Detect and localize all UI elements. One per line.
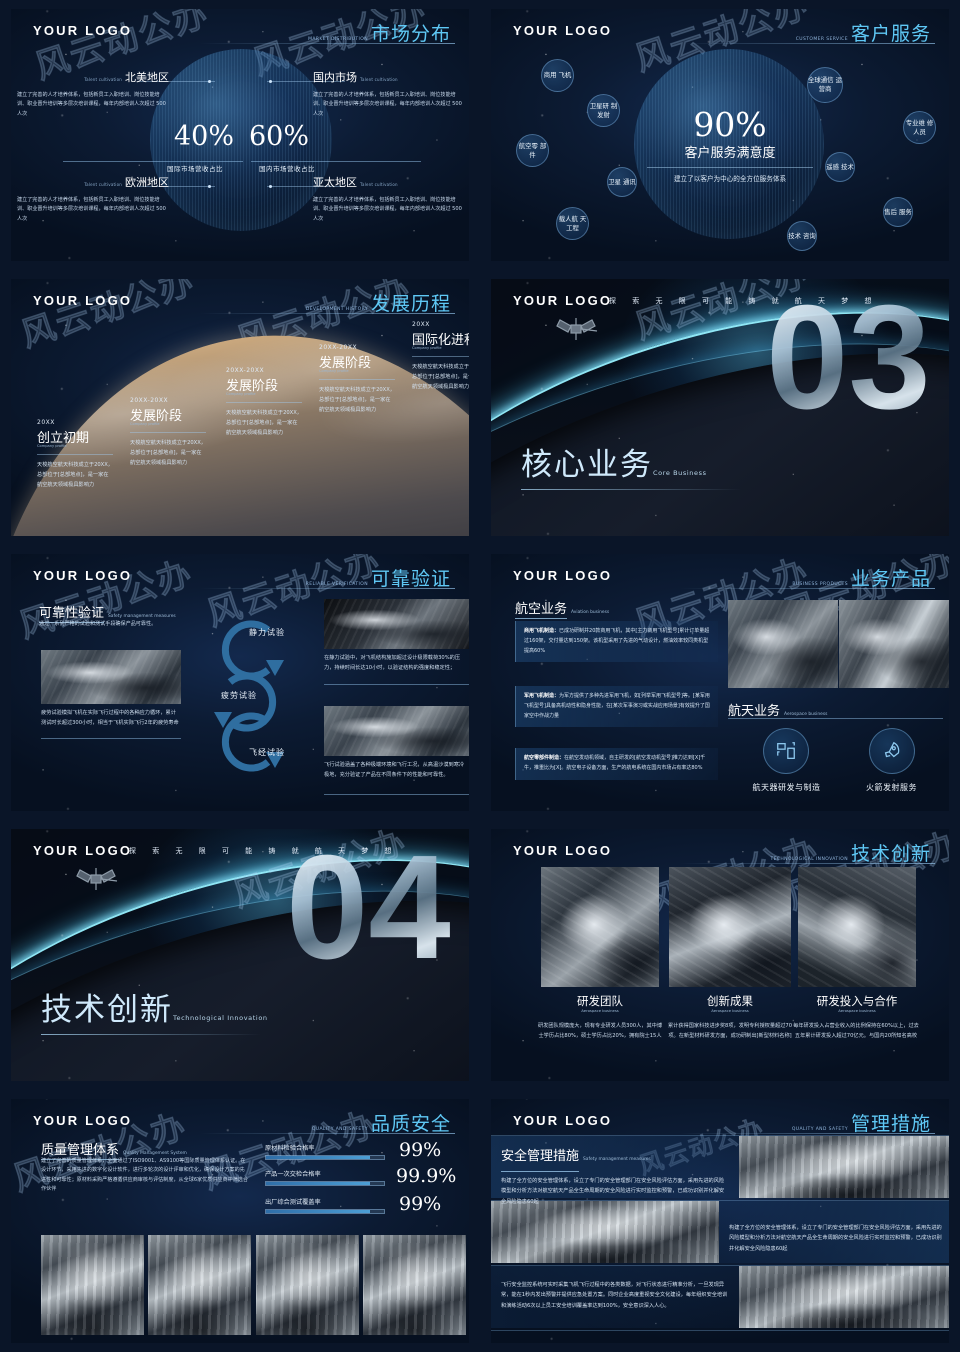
header-title: 技术创新: [851, 839, 931, 866]
stat-band-line: [251, 161, 421, 162]
satellite-icon: [553, 315, 601, 345]
logo: YOUR LOGO: [33, 568, 132, 583]
cycle-label-0: 静力试验: [249, 627, 285, 638]
slide-business-products[interactable]: 风云动公办 风云动公办 YOUR LOGO Business Products …: [480, 545, 960, 820]
divider: [319, 379, 395, 380]
milestone-year-4: 20XX: [412, 321, 469, 328]
satellite-icon: [73, 865, 121, 895]
header-title: 客户服务: [851, 19, 931, 46]
sub-heading-cn: 航天业务: [728, 700, 780, 720]
header-subtitle: Quality And Safety: [312, 1127, 368, 1132]
slide-header: Development History 发展历程: [306, 289, 451, 316]
connector-dot: [208, 185, 211, 188]
region-en-0: Talent cultivation: [84, 77, 122, 82]
slide-section-tech-innovation[interactable]: 风云动公办 04 YOUR LOGO 探 索 无 限 可 能 铸 就 航 天 梦…: [0, 820, 480, 1090]
product-label-2: 航空零部件制造：: [524, 755, 564, 761]
region-en-2: Talent cultivation: [84, 182, 122, 187]
card-title-1: 创新成果 Aerospace business: [669, 993, 791, 1013]
header-subtitle: Reliable Verification: [306, 582, 368, 587]
milestone-body-3: 天梭航空航天科技成立于20XX，总部位于[总部地点]，是一家在航空航天领域极具影…: [319, 385, 395, 415]
facility-photo: [41, 1235, 144, 1335]
facility-photo: [739, 1266, 949, 1328]
region-block-2: Talent cultivation 欧洲地区 建立了完善的人才培养体系，包括新…: [17, 174, 169, 224]
logo: YOUR LOGO: [513, 293, 612, 308]
logo: YOUR LOGO: [33, 293, 132, 308]
section-heading: 航空业务 Aviation business: [515, 598, 609, 619]
measure-body-0: 构建了全方位的安全管理体系，设立了专门的安全管理部门在安全风险评估方面，采用先进…: [501, 1176, 729, 1207]
metric-label-0: 原材料检验合格率: [265, 1143, 385, 1152]
card-title-en-1: Aerospace business: [669, 1008, 791, 1013]
product-item-2: 航空零部件制造：在航空发动机领域，自主研发的[航空发动机型号]推力达到[X]千牛…: [515, 748, 718, 780]
facility-photo: [363, 1235, 466, 1335]
measure-body-2: 飞行安全监控系统可实时采集飞机飞行过程中的各类数据，对飞行状态进行精准分析，一旦…: [501, 1274, 729, 1311]
slide-header: Quality And Safety 品质安全: [312, 1109, 451, 1136]
shuttle-photo: [41, 650, 181, 704]
milestone-body-0: 天梭航空航天科技成立于20XX，总部位于[总部地点]，是一家在航空航天领域极具影…: [37, 460, 113, 490]
header-title: 发展历程: [371, 289, 451, 316]
measure-row-2: 飞行安全监控系统可实时采集飞机飞行过程中的各类数据，对飞行状态进行精准分析，一旦…: [491, 1266, 739, 1328]
milestone-3: 20XX-20XX 发展阶段 Company profile 天梭航空航天科技成…: [319, 344, 395, 415]
section-heading-en: Safety management measures: [108, 614, 176, 619]
airliner-photo: [324, 706, 469, 756]
stat-value-1: 60%: [249, 121, 309, 152]
product-label-0: 商用飞机制造：: [524, 628, 559, 634]
logo: YOUR LOGO: [33, 1113, 132, 1128]
metric-0: 原材料检验合格率: [265, 1143, 385, 1160]
metric-1: 产品一次交检合格率: [265, 1169, 385, 1186]
region-body-0: 建立了完善的人才培养体系，包括新员工入职培训、岗位技能培训、职业晋升培训等多层次…: [17, 91, 169, 119]
region-body-3: 建立了完善的人才培养体系，包括新员工入职培训、岗位技能培训、职业晋升培训等多层次…: [313, 196, 465, 224]
service-bubble-2[interactable]: 航空零 部件: [516, 134, 549, 167]
slide-header: Reliable Verification 可靠验证: [306, 564, 451, 591]
milestone-year-3: 20XX-20XX: [319, 344, 395, 351]
card-title-en-0: Aerospace business: [541, 1008, 659, 1013]
section-heading-en: Quality Management System: [123, 1151, 187, 1156]
section-title-cn: 技术创新: [41, 984, 173, 1029]
service-center-stat: 90% 客户服务满意度 建立了以客户为中心的全方位服务体系: [615, 105, 845, 185]
slide-canvas: 风云动公办 YOUR LOGO Quality And Safety 管理措施 …: [491, 1099, 949, 1343]
region-block-0: Talent cultivation 北美地区 建立了完善的人才培养体系，包括新…: [17, 69, 169, 119]
section-body: 建立了完善的质量管理体系，全面通过了ISO9001、AS9100等国际质量管理体…: [41, 1157, 248, 1195]
header-subtitle: Technological Innovation: [770, 857, 848, 862]
slide-canvas: 风云动公办 风云动公办 YOUR LOGO Technological Inno…: [491, 829, 949, 1081]
slide-canvas: 风云动公办 风云动公办 YOUR LOGO Reliable Verificat…: [11, 554, 469, 811]
milestone-year-0: 20XX: [37, 419, 113, 426]
slide-canvas: 风云动公办 风云动公办 YOUR LOGO Business Products …: [491, 554, 949, 811]
section-title-en: Core Business: [653, 469, 707, 477]
divider: [491, 1330, 949, 1331]
logo: YOUR LOGO: [33, 23, 132, 38]
metric-value-1: 99.9%: [396, 1165, 456, 1187]
spacecraft-glyph: [775, 740, 797, 762]
slide-management-measures[interactable]: 风云动公办 YOUR LOGO Quality And Safety 管理措施 …: [480, 1090, 960, 1352]
region-block-3: 亚太地区 Talent cultivation 建立了完善的人才培养体系，包括新…: [313, 174, 465, 224]
slide-market-distribution[interactable]: 风云动公办 风云动公办 YOUR LOGO Market Distributio…: [0, 0, 480, 270]
section-number: 04: [286, 834, 451, 982]
measure-row-0: 安全管理措施 Safety management measures 构建了全方位…: [491, 1136, 739, 1198]
tagline: 探 索 无 限 可 能 铸 就 航 天 梦 想: [129, 846, 398, 856]
service-bubble-4[interactable]: 载人航 天工程: [556, 207, 589, 240]
logo: YOUR LOGO: [513, 1113, 612, 1128]
service-bubble-9[interactable]: 技术 咨询: [787, 221, 817, 251]
service-bubble-8[interactable]: 售后 服务: [883, 197, 913, 227]
airliner-caption: 飞行试验涵盖了各种极端环境和飞行工况，从高温沙漠到寒冷极地，充分验证了产品在不同…: [324, 760, 469, 780]
product-item-0: 商用飞机制造：已成功研制并20款商用飞机，其中[主力商用飞机型号]累计订单量超过…: [515, 621, 718, 662]
header-subtitle: Market Distribution: [308, 37, 368, 42]
slide-quality-safety[interactable]: 风云动公办 风云动公办 YOUR LOGO Quality And Safety…: [0, 1090, 480, 1352]
satisfaction-desc: 建立了以客户为中心的全方位服务体系: [615, 174, 845, 185]
stat-band-line: [63, 161, 243, 162]
milestone-year-2: 20XX-20XX: [226, 367, 302, 374]
connector-dot: [269, 80, 272, 83]
region-en-3: Talent cultivation: [360, 182, 398, 187]
milestone-year-1: 20XX-20XX: [130, 397, 206, 404]
region-cn-1: 国内市场: [313, 69, 357, 85]
slide-gallery: 风云动公办 风云动公办 YOUR LOGO Market Distributio…: [0, 0, 960, 1352]
card-desc-0: 研发团队规模庞大，现有专业研发人员300人，其中博士学历占比80%，硕士学历占比…: [537, 1021, 663, 1041]
slide-canvas: 风云动公办 风云动公办 YOUR LOGO Quality And Safety…: [11, 1099, 469, 1343]
region-cn-2: 欧洲地区: [125, 174, 169, 190]
divider: [647, 167, 813, 168]
card-image-2: [798, 867, 916, 987]
metric-bar-0: [265, 1155, 385, 1160]
stat-label-0: 国际市场营收占比: [167, 163, 223, 173]
satisfaction-title: 客户服务满意度: [615, 142, 845, 161]
slide-customer-service[interactable]: 风云动公办 YOUR LOGO Customer Service 客户服务 商用…: [480, 0, 960, 270]
region-block-1: 国内市场 Talent cultivation 建立了完善的人才培养体系，包括新…: [313, 69, 465, 119]
section-title-en: Technological Innovation: [173, 1014, 268, 1022]
header-subtitle: Quality And Safety: [792, 1127, 848, 1132]
milestone-body-1: 天梭航空航天科技成立于20XX，总部位于[总部地点]，是一家在航空航天领域极具影…: [130, 438, 206, 468]
section-title: 核心业务 Core Business: [521, 439, 707, 484]
cycle-label-2: 飞经试验: [249, 747, 285, 758]
shuttle-caption: 疲劳试验模拟飞机在实际飞行过程中的各种应力循环，累计测试时长超过300小时，相当…: [41, 708, 181, 728]
section-heading-en: Safety management measures: [583, 1156, 651, 1165]
milestone-0: 20XX 创立初期 Company profile 天梭航空航天科技成立于20X…: [37, 419, 113, 490]
slide-canvas: 风云动公办 风云动公办 YOUR LOGO Market Distributio…: [11, 9, 469, 261]
slide-header: Customer Service 客户服务: [796, 19, 931, 46]
sub-heading-en: Aerospace business: [784, 712, 827, 717]
logo: YOUR LOGO: [33, 843, 132, 858]
section-number: 03: [766, 284, 931, 432]
slide-header: Quality And Safety 管理措施: [792, 1109, 931, 1136]
section-heading-cn: 航空业务: [515, 598, 567, 619]
satellite-photo: [324, 599, 469, 649]
measure-row-1: 构建了全方位的安全管理体系，设立了专门的安全管理部门在安全风险评估方面，采用先进…: [719, 1201, 949, 1263]
divider: [324, 684, 469, 685]
card-title-2: 研发投入与合作 Aerospace business: [793, 993, 921, 1013]
rocket-glyph: [881, 740, 903, 762]
divider: [521, 489, 741, 490]
section-heading-en: Aviation business: [571, 610, 609, 615]
measure-body-1: 构建了全方位的安全管理体系，设立了专门的安全管理部门在安全风险评估方面，采用先进…: [729, 1209, 944, 1254]
tagline: 探 索 无 限 可 能 铸 就 航 天 梦 想: [609, 296, 878, 306]
header-subtitle: Business Products: [792, 582, 848, 587]
service-bubble-5[interactable]: 全球通信 运营商: [807, 67, 843, 103]
engine-photo: [839, 600, 949, 688]
card-title-en-2: Aerospace business: [793, 1008, 921, 1013]
card-title-0: 研发团队 Aerospace business: [541, 993, 659, 1013]
header-title: 市场分布: [371, 19, 451, 46]
header-subtitle: Development History: [306, 307, 368, 312]
logo: YOUR LOGO: [513, 23, 612, 38]
logo: YOUR LOGO: [513, 843, 612, 858]
icon-label-0: 航天器研发与制造: [739, 782, 834, 793]
slide-header: Technological Innovation 技术创新: [770, 839, 931, 866]
slide-canvas: 风云动公办 风云动公办 YOUR LOGO Development Histor…: [11, 279, 469, 536]
milestone-1: 20XX-20XX 发展阶段 Company profile 天梭航空航天科技成…: [130, 397, 206, 468]
metric-value-2: 99%: [399, 1193, 441, 1215]
facility-photo: [148, 1235, 251, 1335]
card-desc-2: 每年研发投入占营业收入的比例保持在60%以上，过去五年累计研发投入超过70亿元。…: [791, 1021, 921, 1041]
milestone-body-2: 天梭航空航天科技成立于20XX，总部位于[总部地点]，是一家在航空航天领域极具影…: [226, 408, 302, 438]
header-title: 可靠验证: [371, 564, 451, 591]
stat-label-1: 国内市场营收占比: [259, 163, 315, 173]
milestone-4: 20XX 国际化进程 Company profile 天梭航空航天科技成立于20…: [412, 321, 469, 392]
slide-section-core-business[interactable]: 风云动公办 03 YOUR LOGO 探 索 无 限 可 能 铸 就 航 天 梦…: [480, 270, 960, 545]
slide-canvas: 风云动公办 YOUR LOGO Customer Service 客户服务 商用…: [491, 9, 949, 261]
section-heading: 安全管理措施 Safety management measures: [501, 1144, 729, 1172]
milestone-2: 20XX-20XX 发展阶段 Company profile 天梭航空航天科技成…: [226, 367, 302, 438]
satisfaction-value: 90%: [615, 105, 845, 144]
sub-section-heading: 航天业务 Aerospace business: [728, 700, 827, 720]
slide-reliable-verification[interactable]: 风云动公办 风云动公办 YOUR LOGO Reliable Verificat…: [0, 545, 480, 820]
divider: [41, 1034, 261, 1035]
spacecraft-icon[interactable]: [763, 728, 809, 774]
stat-value-0: 40%: [174, 121, 234, 152]
metric-label-1: 产品一次交检合格率: [265, 1169, 385, 1178]
facility-photo: [739, 1136, 949, 1198]
metric-label-2: 出厂综合测试覆盖率: [265, 1197, 385, 1206]
card-image-1: [669, 867, 791, 987]
divider: [226, 402, 302, 403]
facility-photo: [256, 1235, 359, 1335]
card-desc-1: 累计获得国家科技进步奖8项，发明专利授权量超过70项。在新型材料研发方面，成功研…: [665, 1021, 795, 1041]
region-body-1: 建立了完善的人才培养体系，包括新员工入职培训、岗位技能培训、职业晋升培训等多层次…: [313, 91, 465, 119]
divider: [37, 454, 113, 455]
card-title-cn-1: 创新成果: [669, 993, 791, 1009]
slide-canvas: 风云动公办 03 YOUR LOGO 探 索 无 限 可 能 铸 就 航 天 梦…: [491, 279, 949, 536]
section-heading-cn: 安全管理措施: [501, 1144, 579, 1172]
region-en-1: Talent cultivation: [360, 77, 398, 82]
slide-header: Business Products 业务产品: [792, 564, 931, 591]
service-bubble-6[interactable]: 专业维 修人员: [903, 111, 936, 144]
cycle-label-1: 疲劳试验: [221, 690, 257, 701]
section-title: 技术创新 Technological Innovation: [41, 984, 268, 1029]
slide-header: Market Distribution 市场分布: [308, 19, 451, 46]
divider: [130, 432, 206, 433]
connector-dot: [208, 80, 211, 83]
metric-bar-1: [265, 1181, 385, 1186]
divider: [412, 356, 469, 357]
connector-dot: [269, 185, 272, 188]
section-lead: 通过一系列严格的试验和测试手段确保产品可靠性。: [39, 620, 219, 629]
service-bubble-0[interactable]: 商用 飞机: [541, 59, 574, 92]
metric-bar-2: [265, 1209, 385, 1214]
airplane-photo: [728, 600, 838, 688]
watermark: 风云动公办: [14, 279, 200, 357]
facility-photo: [491, 1201, 719, 1263]
card-title-cn-2: 研发投入与合作: [793, 993, 921, 1009]
region-body-2: 建立了完善的人才培养体系，包括新员工入职培训、岗位技能培训、职业晋升培训等多层次…: [17, 196, 169, 224]
milestone-body-4: 天梭航空航天科技成立于20XX，总部位于[总部地点]，是一家在航空航天领域极具影…: [412, 362, 469, 392]
metric-value-0: 99%: [399, 1139, 441, 1161]
region-cn-0: 北美地区: [125, 69, 169, 85]
card-title-cn-0: 研发团队: [541, 993, 659, 1009]
icon-label-1: 火箭发射服务: [849, 782, 934, 793]
divider: [41, 738, 181, 739]
header-title: 品质安全: [371, 1109, 451, 1136]
logo: YOUR LOGO: [513, 568, 612, 583]
slide-development-history[interactable]: 风云动公办 风云动公办 YOUR LOGO Development Histor…: [0, 270, 480, 545]
header-subtitle: Customer Service: [796, 37, 848, 42]
satellite-caption: 在静力试验中，对飞机结构施加超过设计极限载荷30%的压力，持续时间长达10小时，…: [324, 653, 469, 673]
product-label-1: 军用飞机制造：: [524, 693, 559, 699]
slide-canvas: 风云动公办 04 YOUR LOGO 探 索 无 限 可 能 铸 就 航 天 梦…: [11, 829, 469, 1081]
rocket-icon[interactable]: [869, 728, 915, 774]
slide-tech-innovation[interactable]: 风云动公办 风云动公办 YOUR LOGO Technological Inno…: [480, 820, 960, 1090]
header-title: 业务产品: [851, 564, 931, 591]
region-cn-3: 亚太地区: [313, 174, 357, 190]
section-title-cn: 核心业务: [521, 439, 653, 484]
header-title: 管理措施: [851, 1109, 931, 1136]
product-item-1: 军用飞机制造：为军方提供了多种先进军用飞机，如[列举军用飞机型号]等。[某军用飞…: [515, 686, 718, 727]
divider: [324, 794, 469, 795]
card-image-0: [541, 867, 659, 987]
metric-2: 出厂综合测试覆盖率: [265, 1197, 385, 1214]
